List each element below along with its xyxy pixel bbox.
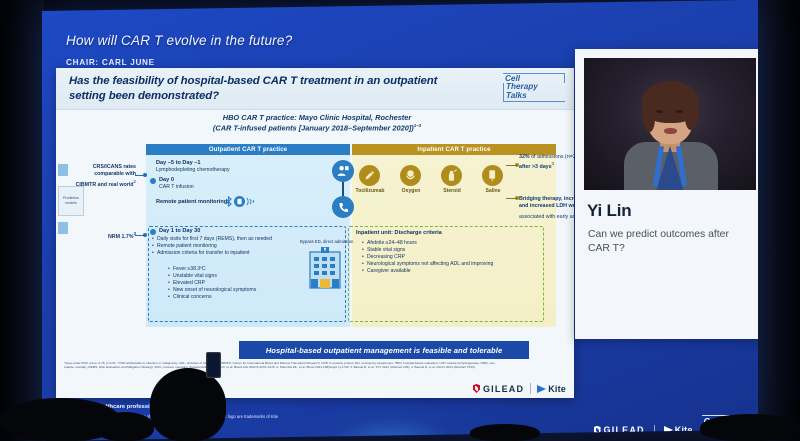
annotation-dot-crs — [143, 173, 147, 177]
room-left-dark — [0, 0, 44, 441]
annotation-leader-bottom — [506, 198, 518, 199]
annotation-dot-nrm — [143, 233, 147, 237]
stage-light-glow — [297, 403, 487, 441]
speaker-panel: Yi Lin Can we predict outcomes after CAR… — [575, 49, 758, 339]
speaker-eye-left — [656, 110, 663, 113]
transfer-connector-line — [342, 182, 344, 196]
gilead-logo: GILEAD — [473, 384, 524, 394]
saline-drip-icon — [482, 165, 503, 186]
bypass-ed-label: Bypass ED, direct admission — [300, 239, 353, 245]
annotation-32-percent-bold2: after >3 days — [519, 164, 552, 170]
slide-title: Has the feasibility of hospital-based CA… — [69, 74, 469, 103]
annotation-bridging-text: associated with early admission — [519, 214, 574, 220]
slide-subtitle: HBO CAR T practice: Mayo Clinic Hospital… — [152, 113, 482, 133]
day0-marker-dot — [150, 178, 156, 184]
logo-line-3: Talks — [503, 92, 565, 102]
slide-subtitle-line-1: HBO CAR T practice: Mayo Clinic Hospital… — [152, 113, 482, 123]
list-item: Decreasing CRP — [362, 254, 538, 261]
list-item: Clinical concerns — [168, 294, 340, 301]
speaker-video-feed — [584, 58, 756, 190]
annotation-crs-icans-sup: 2 — [134, 179, 136, 184]
projection-screen: How will CAR T evolve in the future? CHA… — [42, 0, 758, 441]
logo-divider-footer — [654, 425, 655, 436]
speaker-eye-right — [676, 110, 683, 113]
slide-subtitle-superscript: 1–3 — [414, 123, 421, 128]
kite-logo-footer: Kite — [664, 425, 693, 435]
annotation-nrm-text: NRM 1.7% — [108, 234, 134, 240]
sidebar-tab-prediction-models[interactable]: Prediction models — [58, 186, 84, 216]
annotation-32-percent: 32% of admissions (n=23) occurred after … — [519, 154, 574, 172]
audience-blur-left — [0, 398, 120, 441]
patient-transfer-icon — [332, 160, 354, 182]
annotation-32-percent-text: of admissions (n=23) occurred — [530, 154, 574, 160]
kite-wordmark-footer: Kite — [675, 425, 693, 435]
gilead-wordmark: GILEAD — [483, 384, 524, 394]
kite-triangle-icon — [537, 385, 546, 393]
logo-divider — [530, 383, 531, 394]
discharge-criteria-items: Afebrile ≥24–48 hours Stable vital signs… — [362, 240, 538, 275]
annotation-leader-top — [506, 165, 518, 166]
speaker-topic: Can we predict outcomes after CAR T? — [588, 228, 748, 256]
saline-icon-label: Saline — [474, 188, 512, 194]
annotation-crs-icans: CRS/ICANS rates comparable with CIBMTR a… — [74, 164, 136, 189]
inpatient-column-header: Inpatient CAR T practice — [352, 144, 556, 155]
slide-footnotes: *Area under ROC curve: 0.78, p<0.01. †VN… — [64, 361, 504, 370]
speaker-hair-left — [642, 98, 655, 132]
kite-wordmark: Kite — [548, 384, 566, 394]
sidebar-mark-top — [58, 164, 68, 176]
steroid-bottle-icon — [441, 165, 462, 186]
audience-head-far-right — [700, 414, 800, 441]
slide-subtitle-line-2: (CAR T-infused patients [January 2018–Se… — [213, 123, 414, 132]
speaker-name: Yi Lin — [587, 201, 631, 221]
audience-head-center — [150, 368, 226, 441]
annotation-crs-icans-text: CRS/ICANS rates comparable with CIBMTR a… — [76, 164, 136, 188]
gilead-wordmark-footer: GILEAD — [604, 425, 645, 435]
steroid-icon-label: Steroid — [433, 188, 471, 194]
syringe-icon — [359, 165, 380, 186]
list-item: Caregiver available — [362, 268, 538, 275]
session-chair: CHAIR: CARL JUNE — [66, 58, 155, 67]
phone-call-icon — [332, 196, 354, 218]
list-item: Neurological symptoms not affecting ADL … — [362, 261, 538, 268]
slide-header: Has the feasibility of hospital-based CA… — [56, 68, 574, 110]
speaker-mouth — [664, 128, 677, 134]
kite-logo: Kite — [537, 384, 566, 394]
session-title: How will CAR T evolve in the future? — [66, 33, 292, 48]
remote-monitoring-label: Remote patient monitoring — [156, 199, 227, 207]
annotation-bridging-therapy: Bridging therapy, increased CRP and incr… — [519, 196, 574, 221]
gilead-shield-icon — [473, 384, 480, 393]
outpatient-column-header: Outpatient CAR T practice — [146, 144, 350, 155]
oxygen-icon-label: Oxygen — [392, 188, 430, 194]
bluetooth-icon — [224, 196, 233, 207]
conclusion-banner: Hospital-based outpatient management is … — [239, 341, 529, 359]
hospital-building-icon — [308, 246, 342, 290]
annotation-nrm: NRM 1.7%3 — [74, 231, 136, 241]
sidebar-mark-bottom — [58, 222, 68, 234]
list-item: Stable vital signs — [362, 247, 538, 254]
presentation-slide: Has the feasibility of hospital-based CA… — [56, 68, 574, 398]
list-item: Afebrile ≥24–48 hours — [362, 240, 538, 247]
gilead-logo-footer: GILEAD — [594, 425, 645, 435]
wearable-device-icon — [234, 196, 245, 207]
discharge-criteria-title: Inpatient unit: Discharge criteria — [356, 230, 442, 238]
day1-marker-dot — [150, 229, 156, 235]
slide-subtitle-line-2-wrap: (CAR T-infused patients [January 2018–Se… — [152, 123, 482, 133]
cell-therapy-talks-logo: Cell Therapy Talks — [503, 73, 565, 105]
audience-phone — [206, 352, 221, 378]
speaker-hair-right — [685, 98, 699, 130]
day-minus5-text: Lymphodepleting chemotherapy — [156, 167, 230, 174]
oxygen-mask-icon — [400, 165, 421, 186]
annotation-32-percent-sup: 3 — [552, 161, 554, 166]
kite-triangle-icon — [664, 426, 673, 434]
photo-of-conference-screen: How will CAR T evolve in the future? CHA… — [0, 0, 800, 441]
day1-to-day30-label: Day 1 to Day 30 — [159, 228, 200, 236]
slide-footer-logos: GILEAD Kite — [473, 383, 566, 394]
audience-head-right — [470, 424, 540, 441]
syringe-icon-label: Tocilizumab — [350, 188, 390, 194]
gilead-shield-icon — [594, 426, 601, 435]
annotation-32-percent-value: 32% — [519, 154, 530, 160]
signal-waves-icon — [246, 195, 257, 208]
room-right-dark — [756, 0, 800, 441]
day0-text: CAR T infusion — [159, 184, 194, 191]
annotation-bridging-bold: Bridging therapy, increased CRP and incr… — [519, 196, 574, 209]
